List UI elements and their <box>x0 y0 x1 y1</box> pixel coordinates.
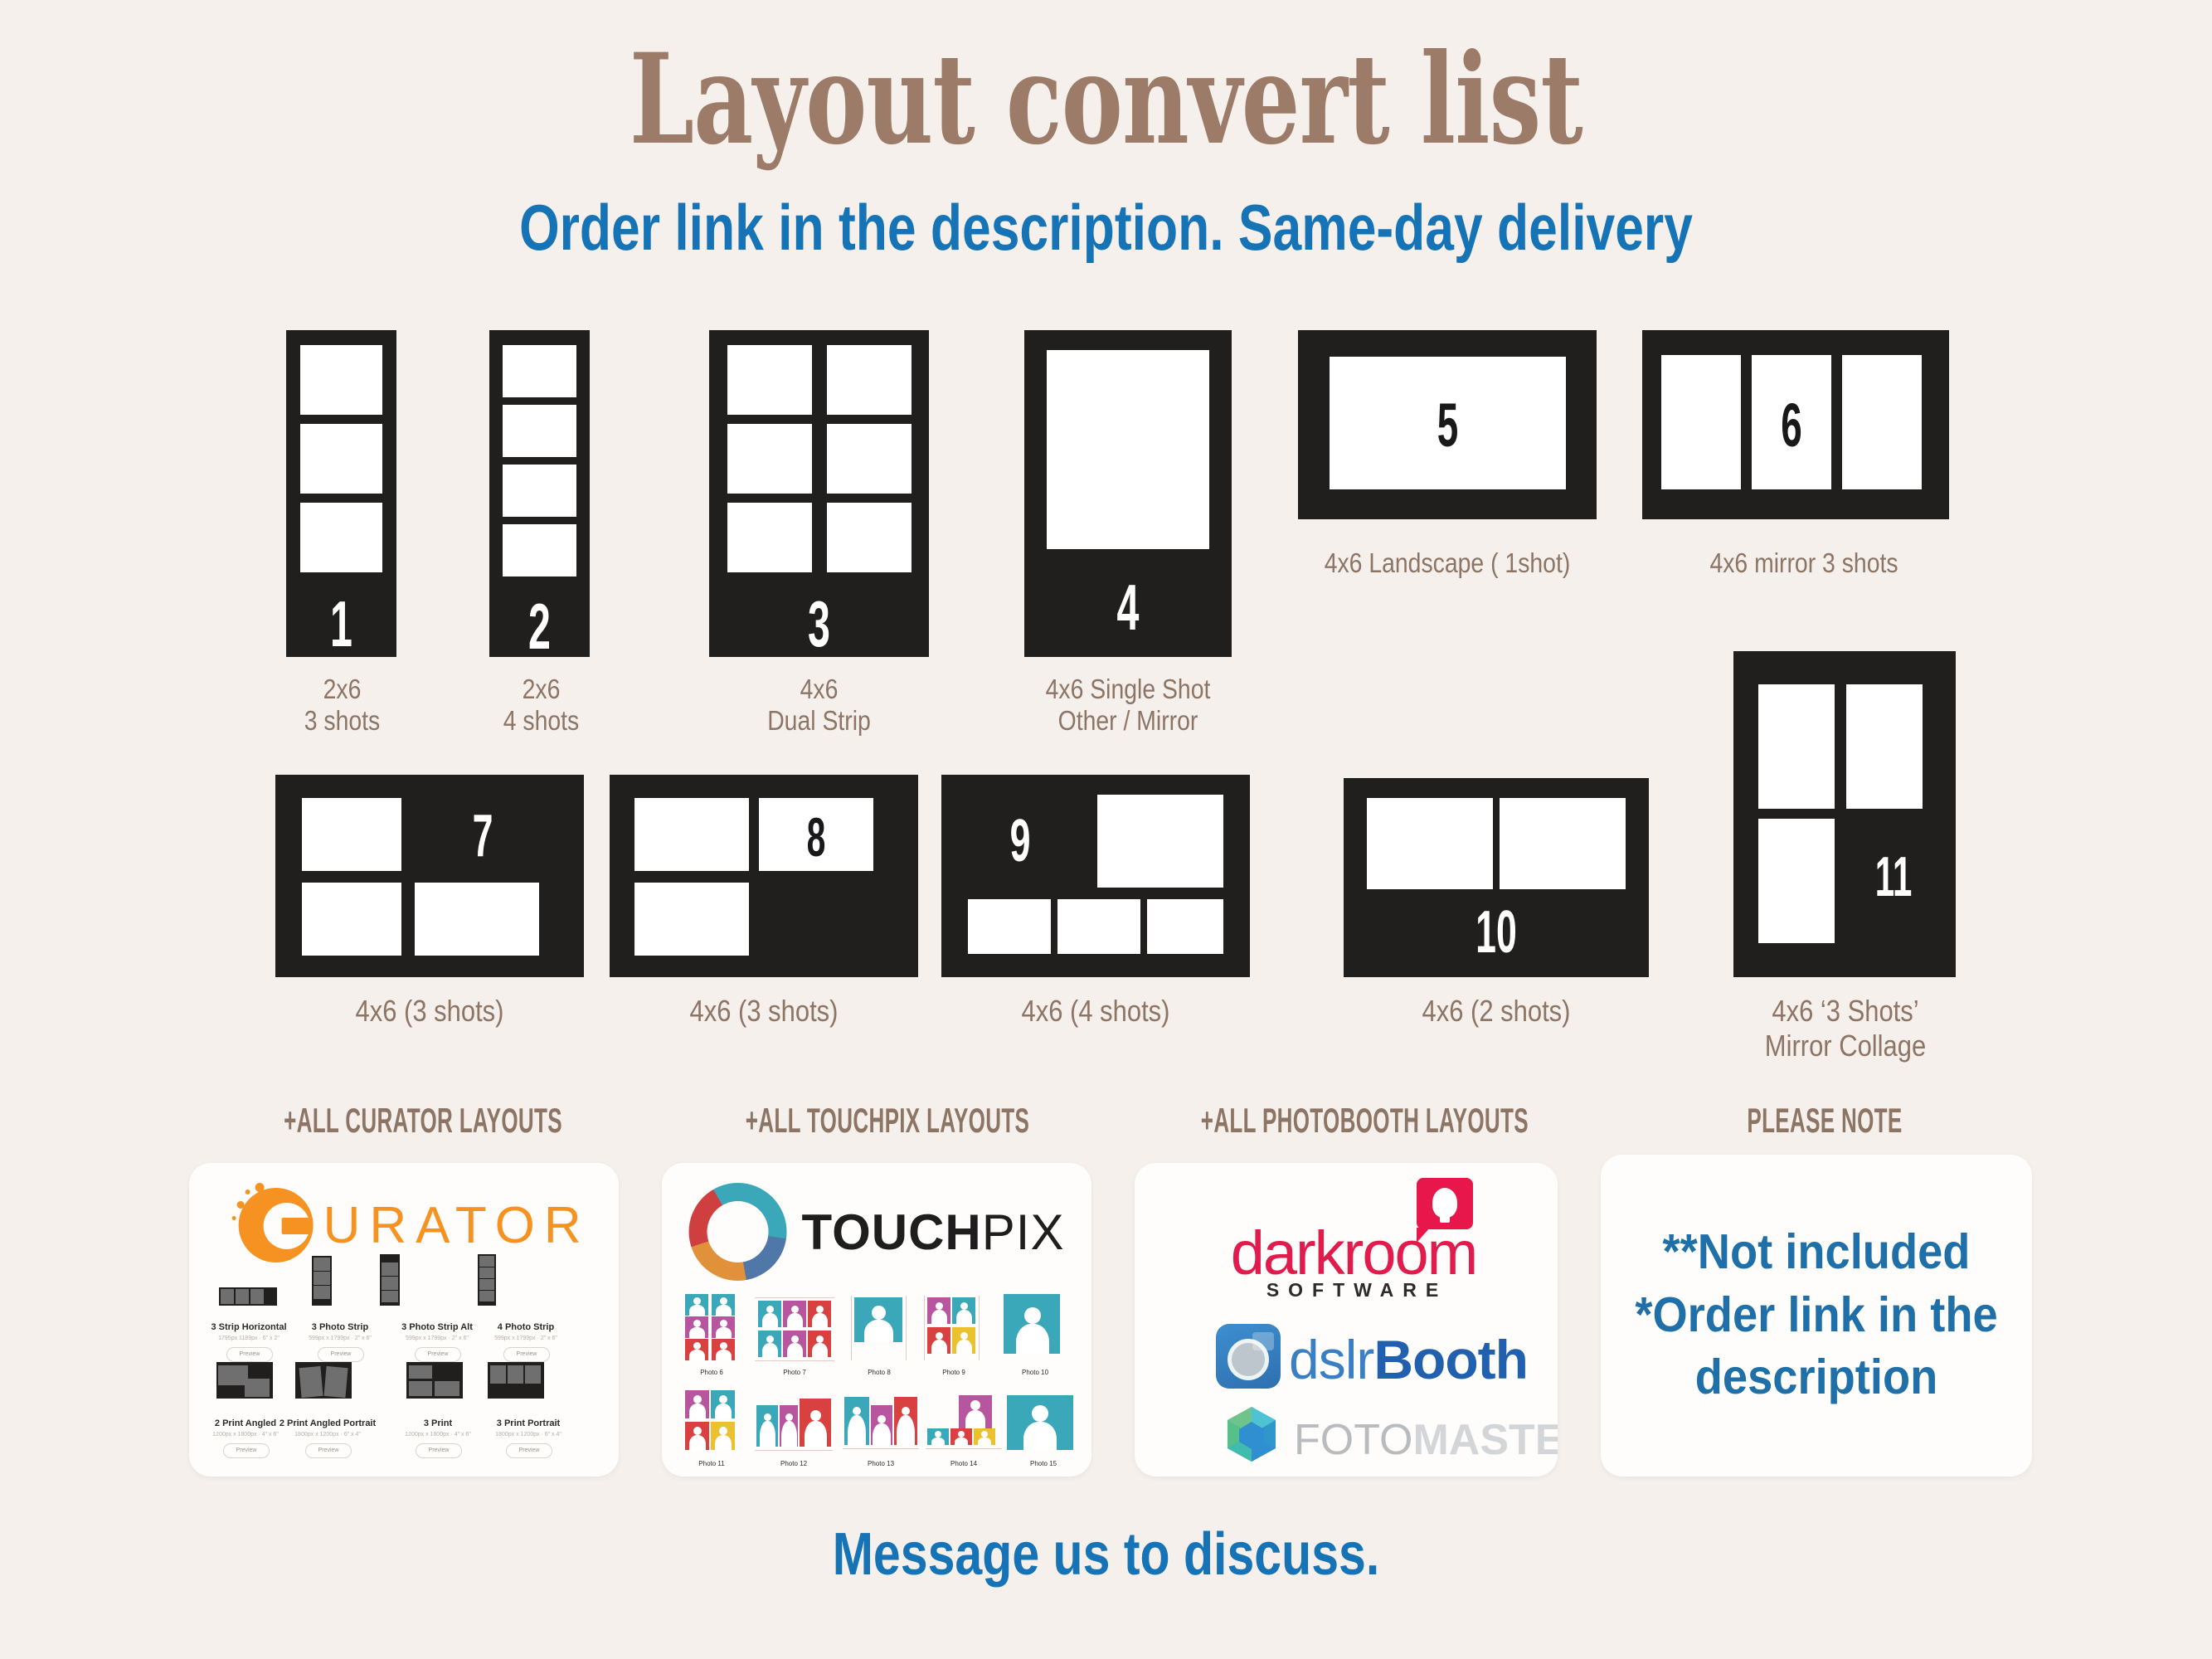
touchpix-thumb-label: Photo 10 <box>997 1369 1073 1376</box>
please-note-text: **Not included *Order link in the descri… <box>1618 1221 2015 1409</box>
layout-card-4[interactable]: 4 <box>1024 330 1232 657</box>
photo-slot <box>1097 795 1223 888</box>
curator-preview-button[interactable]: Preview <box>305 1443 352 1458</box>
dslr-word-light: dslr <box>1289 1329 1373 1390</box>
layout-card-2[interactable]: 2 <box>489 330 590 657</box>
touchpix-thumb-label: Photo 6 <box>680 1369 743 1376</box>
layout-caption: 2x6 4 shots <box>464 674 618 737</box>
section-heading-please-note: PLEASE NOTE <box>1686 1103 1964 1138</box>
curator-wordmark: URATOR <box>323 1196 591 1255</box>
booth-word-bold: Booth <box>1373 1329 1528 1390</box>
layout-number: 11 <box>1870 849 1917 905</box>
footer-message: Message us to discuss. <box>199 1525 2013 1584</box>
curator-card[interactable]: URATOR 3 Strip Horizontal 1795px 1189px … <box>189 1163 619 1477</box>
layout-caption: 4x6 (3 shots) <box>631 994 897 1029</box>
photo-slot <box>503 465 576 517</box>
layout-number: 4 <box>1064 575 1193 640</box>
section-heading-photobooth: +ALL PHOTOBOOTH LAYOUTS <box>1201 1103 1519 1138</box>
touchpix-thumb[interactable] <box>680 1294 743 1364</box>
curator-preview-button[interactable]: Preview <box>226 1347 273 1362</box>
darkroom-wordmark: darkroom <box>1221 1223 1486 1284</box>
photo-slot <box>727 424 812 494</box>
touchpix-thumb[interactable] <box>997 1292 1073 1362</box>
photo-slot <box>1057 899 1140 954</box>
layout-caption: 4x6 Landscape ( 1shot) <box>1287 547 1608 579</box>
photo-slot <box>1661 355 1741 489</box>
curator-preview-label: Preview <box>507 1444 552 1457</box>
layout-caption: 2x6 3 shots <box>265 674 419 737</box>
curator-preview-button[interactable]: Preview <box>318 1347 364 1362</box>
photo-slot <box>503 405 576 457</box>
curator-thumb-label: 3 Photo Strip Alt <box>388 1322 486 1332</box>
curator-thumb-size: 1200px x 1800px · 4" x 6" <box>201 1432 290 1438</box>
touchpix-thumb-label: Photo 7 <box>755 1369 834 1376</box>
layout-card-5[interactable]: 5 <box>1298 330 1597 519</box>
photo-slot <box>300 345 382 415</box>
fotomaster-aperture-icon <box>1221 1404 1282 1465</box>
curator-thumb-size: 1795px 1189px · 6" x 2" <box>204 1335 294 1341</box>
page-subtitle: Order link in the description. Same-day … <box>221 195 1991 260</box>
layout-card-1[interactable]: 1 <box>286 330 396 657</box>
layout-caption: 4x6 Dual Strip <box>742 674 896 737</box>
touchpix-thumb[interactable] <box>755 1294 834 1364</box>
layout-number: 3 <box>751 591 887 656</box>
touchpix-thumb-label: Photo 8 <box>846 1369 912 1376</box>
touchpix-thumb[interactable] <box>680 1389 743 1457</box>
section-heading-touchpix: +ALL TOUCHPIX LAYOUTS <box>743 1103 1031 1138</box>
curator-thumb-label: 3 Print Portrait <box>479 1418 577 1428</box>
curator-preview-button[interactable]: Preview <box>416 1443 462 1458</box>
layout-number: 10 <box>1402 902 1591 962</box>
photo-slot <box>503 345 576 397</box>
photo-slot <box>503 524 576 577</box>
curator-preview-button[interactable]: Preview <box>506 1443 552 1458</box>
layout-card-11[interactable]: 11 <box>1733 651 1956 977</box>
photo-slot <box>1367 798 1493 889</box>
touchpix-thumb-label: Photo 14 <box>924 1460 1004 1467</box>
please-note-card[interactable]: **Not included *Order link in the descri… <box>1601 1155 2032 1477</box>
layout-caption: 4x6 (3 shots) <box>297 994 562 1029</box>
layout-card-9[interactable]: 9 <box>941 775 1250 977</box>
curator-logo: URATOR <box>232 1181 591 1269</box>
layout-caption: 4x6 ‘3 Shots’ Mirror Collage <box>1728 994 1963 1063</box>
layout-card-7[interactable]: 7 <box>275 775 584 977</box>
curator-thumb-size: 1800px x 1200px · 6" x 4" <box>279 1432 377 1438</box>
curator-thumb-size: 599px x 1799px · 2" x 6" <box>295 1335 385 1341</box>
layout-caption: 4x6 mirror 3 shots <box>1644 547 1965 579</box>
darkroom-software-label: SOFTWARE <box>1232 1281 1481 1300</box>
curator-thumb-size: 1200px x 1800px · 4" x 6" <box>393 1432 483 1438</box>
curator-thumb-label: 3 Strip Horizontal <box>204 1322 294 1332</box>
touchpix-ring-icon <box>689 1183 787 1281</box>
photo-slot <box>1846 684 1923 809</box>
curator-thumb-label: 4 Photo Strip <box>481 1322 571 1332</box>
dslrbooth-camera-icon <box>1216 1324 1281 1389</box>
layout-number: 7 <box>452 806 513 866</box>
photo-slot <box>1758 684 1835 809</box>
touchpix-thumb[interactable] <box>921 1294 987 1364</box>
curator-preview-button[interactable]: Preview <box>223 1443 270 1458</box>
touchpix-thumb[interactable] <box>1005 1395 1082 1455</box>
layout-caption: 4x6 (4 shots) <box>963 994 1228 1029</box>
layout-card-10[interactable]: 10 <box>1344 778 1649 977</box>
fotomaster-wordmark: FOTOMASTER <box>1294 1418 1558 1462</box>
curator-thumb-label: 2 Print Angled Portrait <box>279 1418 377 1428</box>
photo-slot <box>968 899 1051 954</box>
touchpix-thumb-label: Photo 11 <box>680 1460 743 1467</box>
dslrbooth-wordmark: dslrBooth <box>1289 1332 1528 1387</box>
photo-slot <box>415 883 539 956</box>
touchpix-thumb-label: Photo 12 <box>753 1460 834 1467</box>
photo-slot <box>300 424 382 494</box>
photo-slot <box>727 345 812 415</box>
layout-number: 8 <box>780 810 852 864</box>
layout-number: 9 <box>992 811 1048 871</box>
touchpix-word-bold: TOUCH <box>802 1204 982 1260</box>
photo-slot <box>302 883 401 956</box>
curator-thumb-size: 599px x 1799px · 2" x 6" <box>481 1335 571 1341</box>
curator-preview-label: Preview <box>224 1444 269 1457</box>
touchpix-wordmark: TOUCHPIX <box>802 1204 1065 1261</box>
layout-caption: 4x6 Single Shot Other / Mirror <box>1024 674 1231 737</box>
touchpix-logo: TOUCHPIX <box>689 1183 1065 1281</box>
layout-card-8[interactable]: 8 <box>610 775 918 977</box>
curator-c-icon <box>232 1181 320 1269</box>
photo-slot <box>1758 819 1835 943</box>
photo-slot <box>634 798 749 871</box>
layout-caption: 4x6 (2 shots) <box>1365 994 1627 1029</box>
touchpix-thumb-label: Photo 15 <box>1005 1460 1082 1467</box>
layout-card-6[interactable]: 6 <box>1642 330 1949 519</box>
photo-slot <box>827 503 912 572</box>
touchpix-thumb[interactable] <box>753 1395 834 1457</box>
lightbulb-icon <box>1432 1188 1457 1218</box>
touchpix-thumb[interactable] <box>846 1294 912 1364</box>
layout-number: 1 <box>307 591 375 656</box>
layout-number: 6 <box>1767 395 1816 456</box>
curator-thumb-label: 3 Print <box>393 1418 483 1428</box>
photobooth-card[interactable]: darkroom SOFTWARE dslrBooth FOTOMASTER <box>1135 1163 1558 1477</box>
photo-slot <box>827 345 912 415</box>
photo-slot <box>302 798 401 871</box>
layout-number: 2 <box>508 594 571 659</box>
photo-slot <box>1047 350 1209 549</box>
touchpix-thumb-label: Photo 13 <box>841 1460 921 1467</box>
curator-preview-label: Preview <box>318 1348 363 1361</box>
curator-preview-button[interactable]: Preview <box>415 1347 461 1362</box>
curator-preview-label: Preview <box>504 1348 549 1361</box>
touchpix-card[interactable]: TOUCHPIX Photo 6 <box>662 1163 1091 1477</box>
curator-thumb-size: 599px x 1799px · 2" x 6" <box>388 1335 486 1341</box>
touchpix-thumb[interactable] <box>924 1392 1004 1457</box>
photo-slot <box>1842 355 1922 489</box>
curator-preview-label: Preview <box>306 1444 351 1457</box>
curator-preview-label: Preview <box>416 1348 460 1361</box>
photo-slot <box>1147 899 1223 954</box>
foto-word-light: FOTO <box>1294 1416 1412 1464</box>
photo-slot <box>727 503 812 572</box>
photo-slot <box>634 883 749 956</box>
section-heading-curator: +ALL CURATOR LAYOUTS <box>279 1103 566 1138</box>
master-word-bold: MASTER <box>1412 1416 1558 1464</box>
layout-card-3[interactable]: 3 <box>709 330 929 657</box>
layout-number: 5 <box>1374 395 1521 456</box>
page-title: Layout convert list <box>288 37 1925 162</box>
curator-preview-button[interactable]: Preview <box>503 1347 550 1362</box>
photo-slot <box>300 503 382 572</box>
curator-thumb-label: 3 Photo Strip <box>295 1322 385 1332</box>
curator-thumb-size: 1800px x 1200px · 6" x 4" <box>479 1432 577 1438</box>
touchpix-thumb-label: Photo 9 <box>921 1369 987 1376</box>
curator-thumb-label: 2 Print Angled <box>201 1418 290 1428</box>
touchpix-word-light: PIX <box>982 1204 1065 1260</box>
curator-preview-label: Preview <box>416 1444 461 1457</box>
poster-root: Layout convert list Order link in the de… <box>0 0 2212 1659</box>
curator-preview-label: Preview <box>227 1348 272 1361</box>
photo-slot <box>827 424 912 494</box>
photo-slot <box>1500 798 1626 889</box>
touchpix-thumb[interactable] <box>841 1394 921 1457</box>
